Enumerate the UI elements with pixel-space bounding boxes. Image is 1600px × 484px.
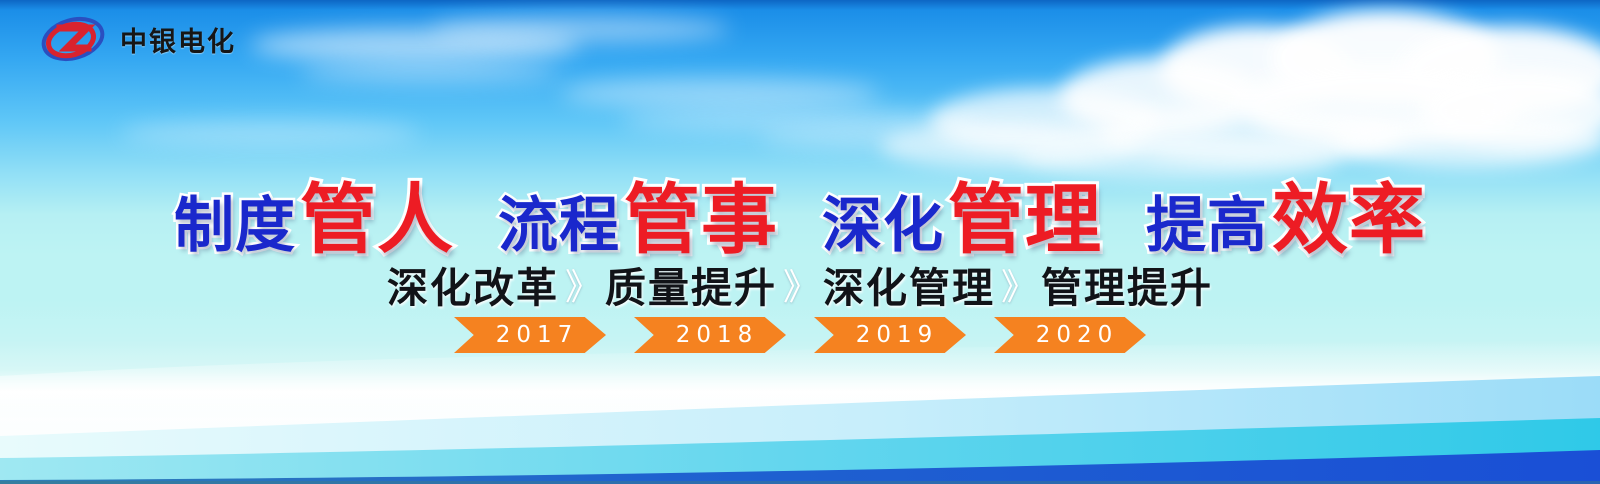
company-name: 中银电化 [120, 20, 236, 59]
brand-logo[interactable]: 中银电化 [40, 14, 236, 64]
year-arrow-2018[interactable]: 2018 [634, 317, 786, 353]
cloud-wisp-left-1 [250, 28, 580, 62]
headline-row: 制度 管人 流程 管事 深化 管理 提高 效率 [0, 158, 1600, 268]
cloud-puff-5 [1240, 64, 1520, 148]
headline-red-2: 管事 [624, 158, 778, 268]
year-arrow-2017[interactable]: 2017 [454, 317, 606, 353]
year-arrow-2020[interactable]: 2020 [994, 317, 1146, 353]
timeline-row: 2017 2018 2019 2020 [0, 317, 1600, 353]
headline-blue-3: 深化 [822, 177, 944, 264]
headline-group-3: 深化 管理 [822, 158, 1102, 268]
headline-red-3: 管理 [948, 158, 1102, 268]
chevron-separator-icon-1: 》 [565, 258, 601, 310]
year-arrow-2019[interactable]: 2019 [814, 317, 966, 353]
chevron-separator-icon-3: 》 [1001, 258, 1037, 310]
headline-blue-1: 制度 [174, 177, 296, 264]
subtitle-item-4: 管理提升 [1041, 254, 1213, 314]
headline-blue-4: 提高 [1146, 177, 1268, 264]
cloud-puff-2 [1270, 10, 1500, 106]
cloud-wisp-mid-3 [760, 126, 1060, 150]
cloud-wisp-low-left [120, 120, 420, 146]
headline-group-4: 提高 效率 [1146, 158, 1426, 268]
subtitle-item-3: 深化管理 [823, 254, 995, 314]
headline-red-4: 效率 [1272, 158, 1426, 268]
cloud-wisp-left-2 [430, 16, 730, 42]
subtitle-row: 深化改革 》 质量提升 》 深化管理 》 管理提升 [0, 254, 1600, 314]
bottom-wave-graphic [0, 340, 1600, 484]
cloud-puff-6 [1420, 70, 1600, 150]
cloud-wisp-left-3 [300, 62, 560, 84]
year-label-2017: 2017 [490, 322, 579, 348]
headline-blue-2: 流程 [498, 177, 620, 264]
cloud-wisp-mid-1 [560, 78, 880, 108]
chevron-separator-icon-2: 》 [783, 258, 819, 310]
year-label-2020: 2020 [1030, 322, 1119, 348]
logo-mark-icon [40, 14, 106, 64]
cloud-puff-1 [1160, 26, 1350, 112]
promotional-banner: 中银电化 制度 管人 流程 管事 深化 管理 提高 效率 深化改革 》 质量提升… [0, 0, 1600, 484]
subtitle-item-2: 质量提升 [605, 254, 777, 314]
year-label-2018: 2018 [670, 322, 759, 348]
headline-red-1: 管人 [300, 158, 454, 268]
headline-group-2: 流程 管事 [498, 158, 778, 268]
cloud-puff-7 [930, 88, 1160, 154]
cloud-puff-3 [1400, 26, 1600, 116]
cloud-puff-8 [1100, 104, 1400, 166]
headline-group-1: 制度 管人 [174, 158, 454, 268]
subtitle-item-1: 深化改革 [387, 254, 559, 314]
cloud-wisp-mid-2 [620, 108, 980, 134]
year-label-2019: 2019 [850, 322, 939, 348]
cloud-puff-4 [1060, 58, 1260, 136]
